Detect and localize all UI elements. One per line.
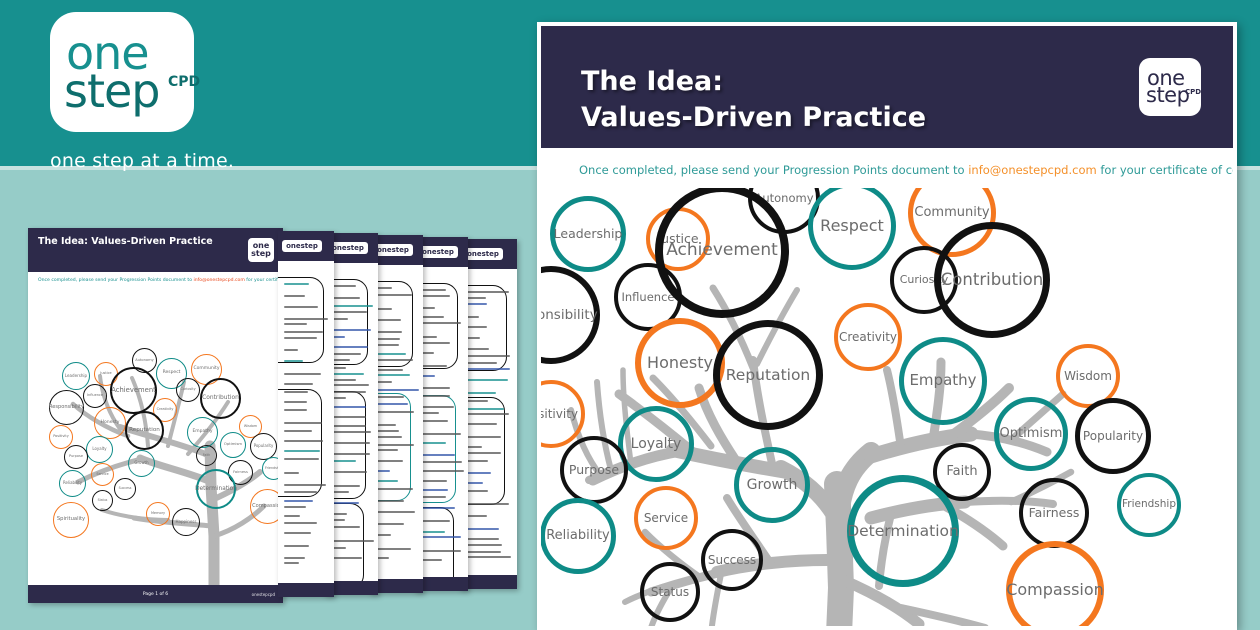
thumbnail-text-line xyxy=(420,480,447,482)
value-node-label: Influence xyxy=(622,291,675,303)
thumbnail-text-line xyxy=(375,444,414,446)
thumbnail-value-node-label: Wisdom xyxy=(244,425,257,428)
thumbnail-text-line xyxy=(284,545,309,547)
thumbnail-text-line xyxy=(465,408,504,410)
thumbnail-text-line xyxy=(420,342,450,344)
thumbnail-text-line xyxy=(375,436,402,438)
thumbnail-text-line xyxy=(284,430,312,432)
thumbnail-text-line xyxy=(330,471,367,473)
thumbnail-text-line xyxy=(330,416,366,418)
thumbnail-value-node-curiosity: Curiosity xyxy=(176,378,200,402)
thumbnail-value-node-label: Status xyxy=(98,499,108,502)
value-node-honesty[interactable]: Honesty xyxy=(635,318,725,408)
thumbnail-text-line xyxy=(420,507,455,509)
value-node-reputation[interactable]: Reputation xyxy=(713,320,823,430)
value-node-label: Status xyxy=(651,586,689,599)
value-node-label: Reliability xyxy=(546,529,610,543)
thumbnail-text-line xyxy=(330,453,370,455)
thumbnail-text-line xyxy=(465,303,487,305)
thumbnail-value-node-label: Optimism xyxy=(224,443,242,447)
thumbnail-value-node-reliability: Reliability xyxy=(59,470,86,497)
thumbnail-text-line xyxy=(330,526,360,528)
thumbnail-value-node-positivity: Positivity xyxy=(49,425,73,449)
value-node-label: Faith xyxy=(946,465,977,479)
value-node-label: Service xyxy=(644,512,688,525)
thumbnail-text-line xyxy=(465,392,496,394)
value-node-label: Community xyxy=(914,206,989,220)
thumbnail-value-node-label: Reliability xyxy=(63,481,82,485)
thumbnail-value-node-label: Purpose xyxy=(69,455,83,459)
thumbnail-text-line xyxy=(375,389,419,391)
value-node-label: Empathy xyxy=(909,373,976,389)
thumbnail-value-node-determination: Determination xyxy=(196,469,236,509)
brand-tagline: one step at a time. xyxy=(50,150,278,172)
value-node-label: Reputation xyxy=(726,367,811,383)
thumbnail-value-node-label: Loyalty xyxy=(92,447,106,451)
panel-note-after: for your certificate of completion. xyxy=(1097,163,1237,177)
thumbnail-note: Once completed, please send your Progres… xyxy=(38,278,283,283)
thumbnail-text-line xyxy=(465,436,501,438)
thumbnail-text-line xyxy=(375,403,408,405)
thumbnail-text-line xyxy=(284,401,307,403)
thumbnail-value-node-label: Fairness xyxy=(233,471,248,475)
thumbnail-value-node-label: Growth xyxy=(134,461,148,465)
thumbnail-text-line xyxy=(330,485,360,487)
thumbnail-value-node-label: Faith xyxy=(203,454,210,457)
thumbnail-value-node-empathy: Empathy xyxy=(187,417,218,448)
thumbnail-text-line xyxy=(284,532,311,534)
thumbnail-note-before: Once completed, please send your Progres… xyxy=(38,278,193,283)
thumbnail-value-node-label: Curiosity xyxy=(180,388,195,392)
thumbnail-text-line xyxy=(375,500,404,502)
value-node-label: Success xyxy=(708,554,756,567)
thumbnail-text-line xyxy=(420,489,448,491)
thumbnail-text-line xyxy=(420,322,461,324)
thumbnail-header: The Idea: Values-Driven Practice one ste… xyxy=(28,228,283,272)
thumbnail-text-line xyxy=(330,305,373,307)
value-node-label: Honesty xyxy=(647,355,713,372)
thumbnail-text-line xyxy=(330,442,370,444)
thumbnail-text-line xyxy=(465,291,509,293)
thumbnail-text-line xyxy=(420,420,448,422)
thumbnail-value-node-label: Responsibility xyxy=(49,405,84,410)
thumbnail-text-line xyxy=(330,297,360,299)
main-document-panel[interactable]: The Idea: Values-Driven Practice one ste… xyxy=(537,22,1237,630)
thumbnail-text-line xyxy=(465,544,502,546)
thumbnail-text-line xyxy=(284,318,328,320)
thumbnail-text-line xyxy=(465,379,508,381)
value-node-creativity[interactable]: Creativity xyxy=(834,303,902,371)
value-node-growth[interactable]: Growth xyxy=(734,447,810,523)
logo-tile: one step CPD xyxy=(50,12,194,132)
thumbnail-page-number: Page 1 of 6 xyxy=(143,592,168,597)
thumbnail-text-line xyxy=(284,506,306,508)
panel-note-before: Once completed, please send your Progres… xyxy=(579,163,968,177)
thumbnail-value-node-success: Success xyxy=(114,478,136,500)
thumbnail-text-line xyxy=(284,409,307,411)
thumbnail-text-line xyxy=(284,491,317,493)
thumbnail-value-node-popularity: Popularity xyxy=(250,433,277,460)
logo-cpd-text: CPD xyxy=(168,74,200,90)
thumbnail-text-line xyxy=(284,500,313,502)
value-node-label: Positivity xyxy=(541,408,578,421)
thumbnail-text-line xyxy=(375,369,403,371)
thumbnail-text-line xyxy=(465,348,489,350)
value-node-optimism[interactable]: Optimism xyxy=(994,397,1068,471)
thumbnail-text-line xyxy=(375,449,398,451)
thumbnail-text-line xyxy=(420,289,446,291)
thumbnail-text-line xyxy=(465,452,501,454)
thumbnail-value-node-honesty: Honesty xyxy=(94,407,126,439)
thumbnail-value-node-label: Autonomy xyxy=(135,359,154,363)
value-node-label: Friendship xyxy=(1122,499,1176,510)
thumbnail-text-line xyxy=(284,383,313,385)
value-node-label: Respect xyxy=(820,218,884,235)
panel-note: Once completed, please send your Progres… xyxy=(579,163,1237,177)
thumbnail-text-line xyxy=(284,422,322,424)
thumbnail-values-tree: LeadershipJusticeAutonomyRespectCommunit… xyxy=(28,286,283,586)
thumbnail-value-node-label: Service xyxy=(96,473,108,476)
thumbnail-text-line xyxy=(465,515,487,517)
value-node-purpose[interactable]: Purpose xyxy=(560,436,628,504)
thumbnail-text-line xyxy=(330,353,361,355)
thumbnail-text-line xyxy=(465,368,510,370)
thumbnail-value-node-label: Spirituality xyxy=(57,517,85,522)
value-node-contribution[interactable]: Contribution xyxy=(934,222,1050,338)
panel-note-email-link[interactable]: info@onestepcpd.com xyxy=(968,163,1096,177)
value-node-success[interactable]: Success xyxy=(701,529,763,591)
panel-logo: one step CPD xyxy=(1139,58,1201,116)
thumbnail-text-line xyxy=(465,297,486,299)
thumbnail-text-line xyxy=(375,430,399,432)
panel-header: The Idea: Values-Driven Practice one ste… xyxy=(541,26,1233,148)
thumbnail-value-node-label: Honesty xyxy=(100,421,119,426)
brand-logo: one step CPD one step at a time. xyxy=(28,12,278,172)
thumbnail-footer-brand: onestepcpd xyxy=(252,592,275,597)
document-thumbnail-stack[interactable]: onesteponesteponesteponesteponestep The … xyxy=(28,228,518,603)
thumbnail-value-node-label: Respect xyxy=(163,371,181,376)
thumbnail-text-line xyxy=(420,395,450,397)
panel-logo-step: step xyxy=(1146,85,1189,106)
thumbnail-text-line xyxy=(465,326,487,328)
thumbnail-text-line xyxy=(375,548,411,550)
value-node-friendship[interactable]: Friendship xyxy=(1117,473,1181,537)
value-node-service[interactable]: Service xyxy=(634,486,698,550)
value-node-status[interactable]: Status xyxy=(640,562,700,622)
values-tree: LeadershipJusticeAutonomyRespectCommunit… xyxy=(541,188,1233,630)
thumbnail-title: The Idea: Values-Driven Practice xyxy=(38,236,213,249)
thumbnail-text-line xyxy=(465,490,488,492)
thumbnail-value-node-label: Memory xyxy=(151,512,165,516)
thumbnail-text-line xyxy=(420,531,445,533)
thumbnail-value-node-label: Leadership xyxy=(65,374,87,378)
value-node-label: Growth xyxy=(747,478,798,493)
thumbnail-text-line xyxy=(375,523,404,525)
thumbnail-text-line xyxy=(284,515,300,517)
thumbnail-text-line xyxy=(284,562,299,564)
thumbnail-value-node-label: Achievement xyxy=(111,387,156,394)
thumbnail-value-node-label: Happiness xyxy=(175,520,196,524)
thumbnail-text-line xyxy=(375,374,410,376)
thumbnail-text-line xyxy=(420,433,461,435)
thumbnail-text-line xyxy=(420,442,446,444)
thumbnail-text-line xyxy=(284,484,326,486)
logo-step-text: step xyxy=(64,68,160,114)
thumbnail-page-footer xyxy=(278,583,334,597)
thumbnail-value-node-status: Status xyxy=(92,490,113,511)
thumbnail-text-line xyxy=(284,557,305,559)
thumbnail-text-line xyxy=(284,331,323,333)
thumbnail-value-node-achievement: Achievement xyxy=(110,367,157,414)
thumbnail-text-line xyxy=(284,522,317,524)
thumbnail-value-node-label: Reputation xyxy=(129,428,160,434)
thumbnail-value-node-label: Empathy xyxy=(192,430,212,435)
thumbnail-text-line xyxy=(420,559,442,561)
thumbnail-text-line xyxy=(284,373,321,375)
thumbnail-value-node-influence: Influence xyxy=(83,384,107,408)
thumbnail-text-line xyxy=(465,503,509,505)
thumbnail-text-line xyxy=(465,355,510,357)
value-node-label: Fairness xyxy=(1029,506,1080,519)
thumbnail-value-node-happiness: Happiness xyxy=(172,508,200,536)
thumbnail-value-node-service: Service xyxy=(91,463,114,486)
value-node-label: Creativity xyxy=(839,331,897,344)
thumbnail-text-line xyxy=(330,425,366,427)
thumbnail-page-1[interactable]: The Idea: Values-Driven Practice one ste… xyxy=(28,228,283,603)
thumbnail-value-node-reputation: Reputation xyxy=(125,411,164,450)
thumbnail-text-line xyxy=(420,316,444,318)
thumbnail-text-line xyxy=(375,353,406,355)
thumbnail-text-line xyxy=(375,294,412,296)
value-node-fairness[interactable]: Fairness xyxy=(1019,478,1089,548)
thumbnail-note-email: info@onestepcpd.com xyxy=(193,278,244,283)
thumbnail-text-line xyxy=(330,391,366,393)
thumbnail-text-line xyxy=(465,556,511,558)
thumbnail-text-line xyxy=(375,396,404,398)
thumbnail-logo: one step xyxy=(248,238,274,262)
thumbnail-text-line xyxy=(420,536,461,538)
thumbnail-text-line xyxy=(420,365,447,367)
thumbnail-value-node-faith: Faith xyxy=(196,445,217,466)
thumbnail-text-line xyxy=(420,461,462,463)
value-node-compassion[interactable]: Compassion xyxy=(1006,541,1104,630)
thumbnail-text-line xyxy=(465,551,501,553)
value-node-label: Responsibility xyxy=(541,308,598,322)
screenshot-root: one step CPD one step at a time. onestep… xyxy=(0,0,1260,630)
thumbnail-value-node-contribution: Contribution xyxy=(200,378,241,419)
thumbnail-value-node-label: Success xyxy=(119,487,132,490)
thumbnail-text-line xyxy=(330,540,374,542)
thumbnail-text-line xyxy=(375,511,415,513)
thumbnail-text-line xyxy=(330,384,369,386)
thumbnail-value-node-label: Creativity xyxy=(157,408,174,412)
value-node-leadership[interactable]: Leadership xyxy=(550,196,626,272)
thumbnail-text-line xyxy=(465,400,488,402)
thumbnail-value-node-responsibility: Responsibility xyxy=(49,390,84,425)
thumbnail-text-line xyxy=(330,431,371,433)
value-node-determination[interactable]: Determination xyxy=(847,475,959,587)
thumbnail-page-2[interactable]: onestep xyxy=(278,231,334,597)
thumbnail-footer: Page 1 of 6 onestepcpd xyxy=(28,585,283,603)
thumbnail-text-line xyxy=(284,283,309,285)
value-node-label: Leadership xyxy=(554,227,623,240)
thumbnail-value-node-label: Determination xyxy=(195,486,237,492)
thumbnail-value-node-label: Community xyxy=(194,367,220,372)
thumbnail-page-text-lines xyxy=(278,231,334,597)
thumbnail-text-line xyxy=(330,346,368,348)
thumbnail-value-node-label: Justice xyxy=(100,372,111,376)
thumbnail-text-line xyxy=(420,550,461,552)
thumbnail-text-line xyxy=(375,488,413,490)
value-node-empathy[interactable]: Empathy xyxy=(899,337,987,425)
value-node-label: Popularity xyxy=(1083,430,1143,443)
value-node-label: Compassion xyxy=(1006,582,1104,599)
value-node-label: Contribution xyxy=(941,271,1043,288)
panel-title: The Idea: Values-Driven Practice xyxy=(581,64,926,137)
value-node-loyalty[interactable]: Loyalty xyxy=(618,406,694,482)
thumbnail-text-line xyxy=(420,295,450,297)
thumbnail-text-line xyxy=(465,362,497,364)
value-node-label: Optimism xyxy=(1000,427,1063,441)
thumbnail-text-line xyxy=(465,538,499,540)
thumbnail-text-line xyxy=(284,391,308,393)
thumbnail-text-line xyxy=(330,373,364,375)
thumbnail-text-line xyxy=(330,329,371,331)
thumbnail-value-node-spirituality: Spirituality xyxy=(53,502,89,538)
thumbnail-text-line xyxy=(375,338,400,340)
value-node-label: Achievement xyxy=(666,242,778,260)
thumbnail-callout-box xyxy=(278,389,322,497)
value-node-label: Loyalty xyxy=(631,437,682,452)
thumbnail-text-line xyxy=(420,496,446,498)
thumbnail-value-node-growth: Growth xyxy=(128,450,155,477)
thumbnail-text-line xyxy=(420,454,455,456)
thumbnail-value-node-leadership: Leadership xyxy=(62,362,90,390)
thumbnail-value-node-loyalty: Loyalty xyxy=(86,436,113,463)
thumbnail-text-line xyxy=(465,528,499,530)
thumbnail-value-node-label: Contribution xyxy=(202,395,239,401)
value-node-achievement[interactable]: Achievement xyxy=(655,188,789,318)
value-node-reliability[interactable]: Reliability xyxy=(541,498,616,574)
thumbnail-value-node-label: Positivity xyxy=(53,435,69,439)
thumbnail-value-node-label: Popularity xyxy=(254,444,274,448)
value-node-popularity[interactable]: Popularity xyxy=(1075,398,1151,474)
thumbnail-text-line xyxy=(420,387,450,389)
thumbnail-value-node-label: Influence xyxy=(87,394,103,398)
thumbnail-value-node-purpose: Purpose xyxy=(64,445,88,469)
value-node-label: Determination xyxy=(847,523,959,539)
value-node-label: Wisdom xyxy=(1064,370,1112,383)
thumbnail-value-node-optimism: Optimism xyxy=(220,432,246,458)
panel-logo-cpd: CPD xyxy=(1185,88,1201,96)
value-node-label: Purpose xyxy=(569,463,619,476)
thumbnail-text-line xyxy=(284,360,303,362)
thumbnail-text-line xyxy=(284,323,307,325)
thumbnail-text-line xyxy=(375,331,402,333)
thumbnail-text-line xyxy=(284,472,299,474)
thumbnail-text-line xyxy=(375,411,414,413)
thumbnail-value-node-memory: Memory xyxy=(146,502,170,526)
thumbnail-text-line xyxy=(465,423,497,425)
